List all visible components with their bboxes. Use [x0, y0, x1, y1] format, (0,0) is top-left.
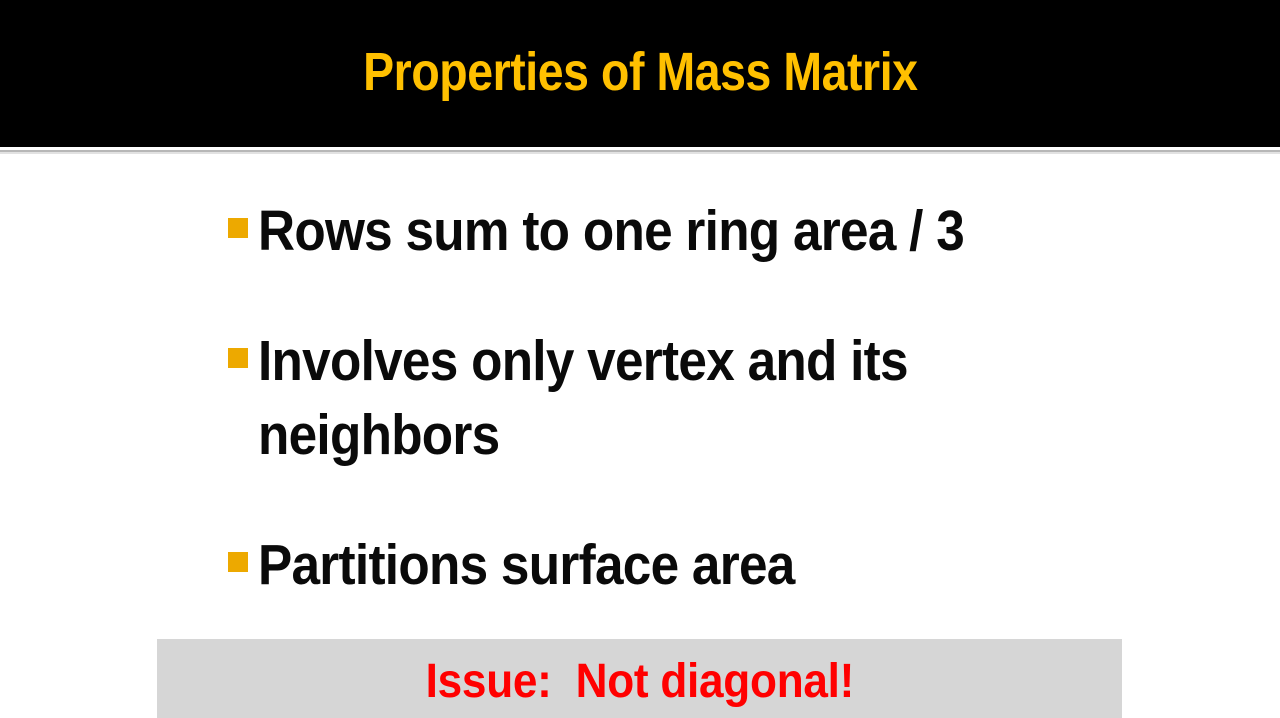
title-band: Properties of Mass Matrix	[0, 0, 1280, 147]
callout-box: Issue: Not diagonal!	[157, 639, 1122, 718]
bullet-item: Partitions surface area	[228, 528, 1068, 602]
bullet-item-label: Involves only vertex and its neighbors	[258, 324, 987, 472]
bullet-item: Rows sum to one ring area / 3	[228, 194, 1068, 268]
bullet-item: Involves only vertex and its neighbors	[228, 324, 1068, 472]
square-bullet-icon	[228, 348, 248, 368]
bullet-item-label: Rows sum to one ring area / 3	[258, 194, 987, 268]
slide-title: Properties of Mass Matrix	[363, 45, 917, 99]
slide-body: Rows sum to one ring area / 3 Involves o…	[0, 154, 1280, 634]
bullet-list: Rows sum to one ring area / 3 Involves o…	[228, 194, 1068, 602]
square-bullet-icon	[228, 552, 248, 572]
callout-text: Issue: Not diagonal!	[425, 658, 853, 706]
square-bullet-icon	[228, 218, 248, 238]
slide: Properties of Mass Matrix Rows sum to on…	[0, 0, 1280, 718]
bullet-item-label: Partitions surface area	[258, 528, 987, 602]
